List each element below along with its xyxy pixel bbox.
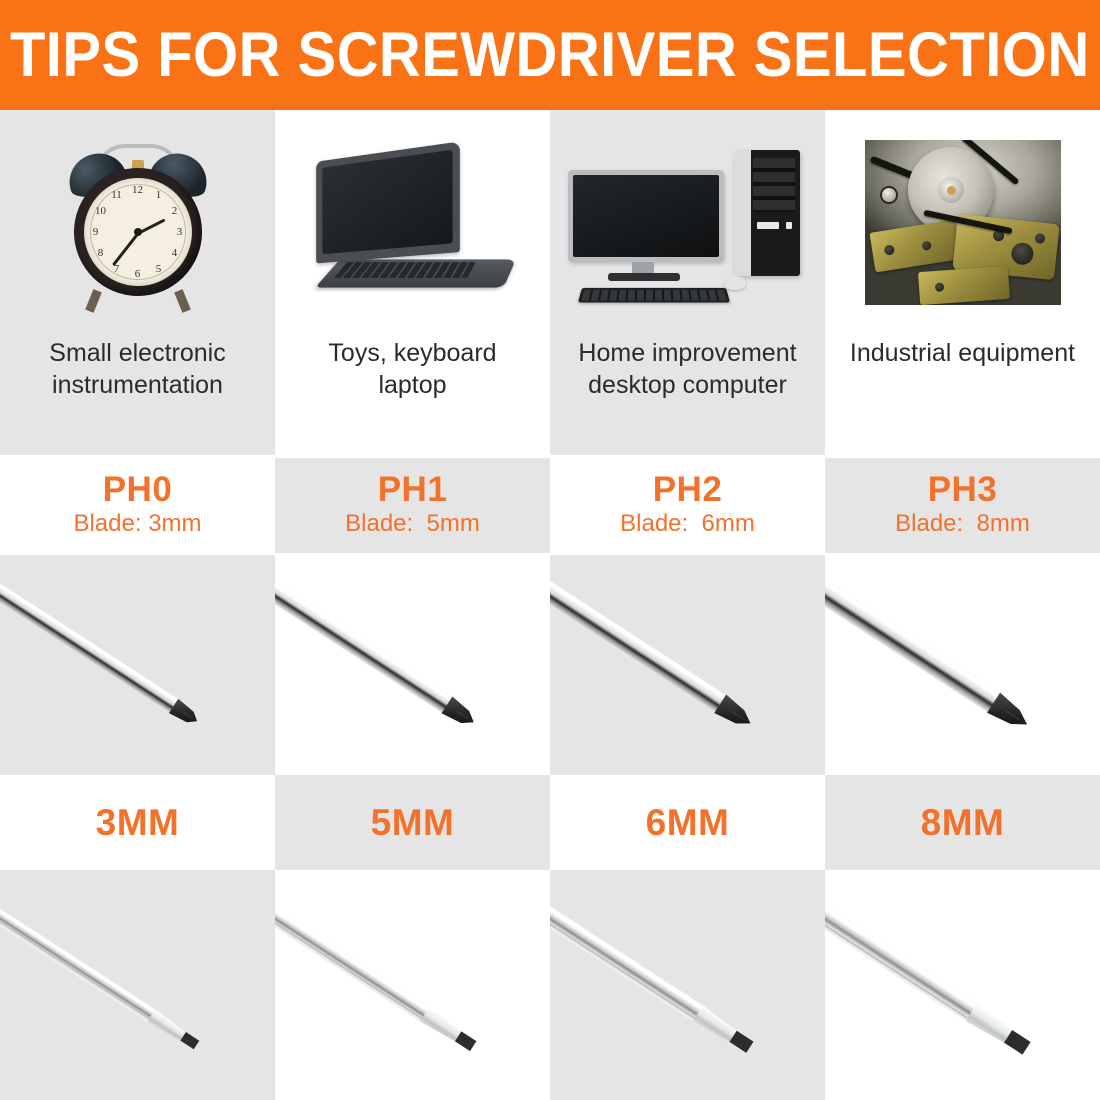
desktop-computer-icon: [573, 138, 803, 313]
phillips-screwdriver-icon: [825, 555, 1100, 775]
slotted-label-cell-1: 3MM: [0, 775, 275, 870]
phillips-screwdriver-icon: [0, 555, 275, 775]
page-title: TIPS FOR SCREWDRIVER SELECTION: [10, 24, 1090, 87]
slotted-label-row: 3MM 5MM 6MM 8MM: [0, 775, 1100, 870]
slotted-driver-row: [0, 870, 1100, 1100]
slotted-size-label: 5MM: [371, 804, 455, 841]
industrial-machinery-photo: [848, 138, 1078, 313]
use-case-caption: Industrial equipment: [829, 337, 1097, 369]
use-case-cell-4: Industrial equipment: [825, 110, 1100, 455]
phillips-label-cell-3: PH2 Blade: 6mm: [550, 458, 825, 553]
phillips-size-label: PH0: [103, 472, 173, 509]
phillips-driver-row: [0, 555, 1100, 775]
infographic-page: TIPS FOR SCREWDRIVER SELECTION: [0, 0, 1100, 1100]
alarm-clock-icon: 12 1 2 3 4 5 6 7 8 9 10: [23, 138, 253, 313]
slotted-screwdriver-icon: [825, 870, 1100, 1100]
phillips-label-cell-4: PH3 Blade: 8mm: [825, 458, 1100, 553]
slotted-screwdriver-3mm: [0, 870, 275, 1100]
phillips-screwdriver-ph1: [275, 555, 550, 775]
phillips-screwdriver-ph0: [0, 555, 275, 775]
phillips-label-cell-1: PH0 Blade: 3mm: [0, 458, 275, 553]
phillips-blade-label: Blade: 5mm: [345, 510, 480, 539]
phillips-screwdriver-ph3: [825, 555, 1100, 775]
use-case-caption: Toys, keyboard laptop: [279, 337, 547, 401]
slotted-screwdriver-icon: [0, 870, 275, 1100]
laptop-icon: [298, 138, 528, 313]
use-case-cell-2: Toys, keyboard laptop: [275, 110, 550, 455]
slotted-screwdriver-icon: [275, 870, 550, 1100]
slotted-size-label: 3MM: [96, 804, 180, 841]
phillips-screwdriver-icon: [550, 555, 825, 775]
use-case-cell-3: Home improvement desktop computer: [550, 110, 825, 455]
slotted-screwdriver-5mm: [275, 870, 550, 1100]
slotted-label-cell-3: 6MM: [550, 775, 825, 870]
use-case-cell-1: 12 1 2 3 4 5 6 7 8 9 10: [0, 110, 275, 455]
use-case-caption: Home improvement desktop computer: [554, 337, 822, 401]
phillips-blade-label: Blade: 3mm: [73, 510, 201, 539]
slotted-label-cell-4: 8MM: [825, 775, 1100, 870]
slotted-screwdriver-6mm: [550, 870, 825, 1100]
phillips-size-label: PH2: [653, 472, 723, 509]
slotted-screwdriver-icon: [550, 870, 825, 1100]
phillips-blade-label: Blade: 6mm: [620, 510, 755, 539]
slotted-size-label: 8MM: [921, 804, 1005, 841]
slotted-size-label: 6MM: [646, 804, 730, 841]
phillips-size-label: PH3: [928, 472, 998, 509]
phillips-screwdriver-ph2: [550, 555, 825, 775]
phillips-screwdriver-icon: [275, 555, 550, 775]
phillips-label-row: PH0 Blade: 3mm PH1 Blade: 5mm PH2 Blade:…: [0, 458, 1100, 553]
use-case-caption: Small electronic instrumentation: [4, 337, 272, 401]
phillips-label-cell-2: PH1 Blade: 5mm: [275, 458, 550, 553]
phillips-blade-label: Blade: 8mm: [895, 510, 1030, 539]
slotted-label-cell-2: 5MM: [275, 775, 550, 870]
page-header-banner: TIPS FOR SCREWDRIVER SELECTION: [0, 0, 1100, 110]
comparison-grid: 12 1 2 3 4 5 6 7 8 9 10: [0, 110, 1100, 1100]
slotted-screwdriver-8mm: [825, 870, 1100, 1100]
use-case-row: 12 1 2 3 4 5 6 7 8 9 10: [0, 110, 1100, 455]
phillips-size-label: PH1: [378, 472, 448, 509]
